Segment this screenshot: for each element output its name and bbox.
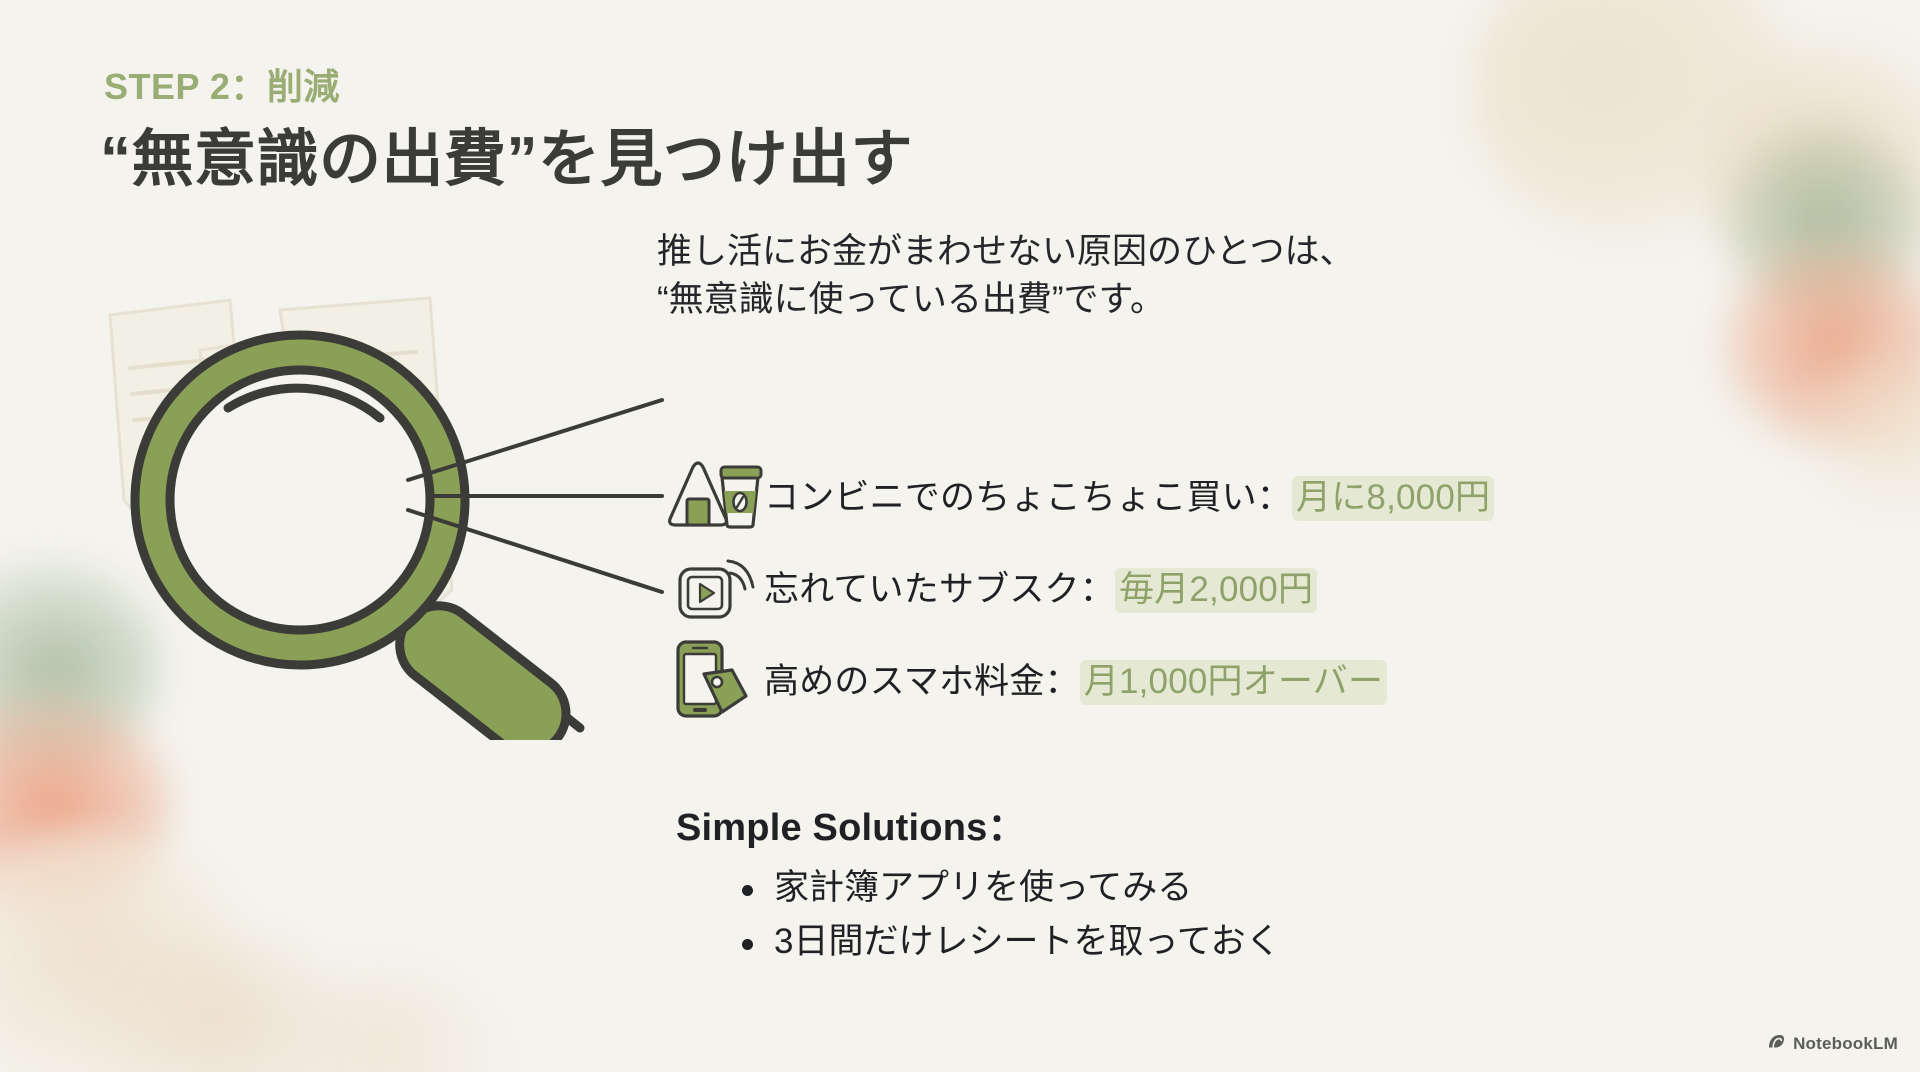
expense-item-label: コンビニでのちょこちょこ買い：: [764, 478, 1292, 517]
expense-item-row: コンビニでのちょこちょこ買い：月に8,000円: [660, 448, 1494, 540]
subscription-play-icon: [660, 549, 764, 623]
slide-canvas: STEP 2：削減 “無意識の出費”を見つけ出す 推し活にお金がまわせない原因の…: [0, 0, 1920, 1072]
connector-line-3: [408, 510, 662, 592]
notebooklm-icon: [1767, 1032, 1786, 1056]
watercolor-blob-green-top-right: [1720, 120, 1920, 320]
step-label: STEP 2：削減: [104, 58, 340, 110]
expense-item-label: 忘れていたサブスク：: [764, 570, 1115, 609]
expense-item-amount: 毎月2,000円: [1115, 568, 1317, 613]
solutions-list: 家計簿アプリを使ってみる 3日間だけレシートを取っておく: [676, 861, 1281, 970]
smartphone-pricetag-icon: [660, 636, 764, 720]
notebooklm-label: NotebookLM: [1793, 1034, 1898, 1054]
expense-item-amount: 月に8,000円: [1292, 476, 1494, 521]
watercolor-blob-cream-bottom: [90, 930, 350, 1072]
expense-items-list: コンビニでのちょこちょこ買い：月に8,000円 忘れていたサブスク：毎月2,00…: [660, 448, 1494, 724]
solutions-section: Simple Solutions： 家計簿アプリを使ってみる 3日間だけレシート…: [676, 796, 1281, 970]
watercolor-blob-cream-right: [1800, 330, 1920, 510]
onigiri-coffee-icon: [660, 457, 764, 531]
watercolor-blob-cream-bottom-center: [260, 972, 500, 1072]
watercolor-blob-cream-bottom-left: [0, 830, 240, 1072]
expense-item-text: 高めのスマホ料金：月1,000円オーバー: [764, 653, 1387, 704]
expense-item-row: 忘れていたサブスク：毎月2,000円: [660, 540, 1494, 632]
page-title: “無意識の出費”を見つけ出す: [100, 108, 913, 198]
intro-line-1: 推し活にお金がまわせない原因のひとつは、: [657, 228, 1355, 276]
solutions-title: Simple Solutions：: [676, 796, 1281, 851]
expense-item-amount: 月1,000円オーバー: [1080, 660, 1387, 705]
list-item: 家計簿アプリを使ってみる: [676, 861, 1281, 915]
watercolor-blob-tan-top-right: [1700, 40, 1920, 290]
list-item: 3日間だけレシートを取っておく: [676, 915, 1281, 969]
intro-line-2: “無意識に使っている出費”です。: [657, 276, 1355, 324]
expense-item-row: 高めのスマホ料金：月1,000円オーバー: [660, 632, 1494, 724]
expense-item-label: 高めのスマホ料金：: [764, 662, 1080, 701]
expense-item-text: コンビニでのちょこちょこ買い：月に8,000円: [764, 469, 1494, 520]
watercolor-blob-orange-top-right: [1720, 240, 1920, 450]
connector-line-1: [408, 400, 662, 480]
intro-paragraph: 推し活にお金がまわせない原因のひとつは、 “無意識に使っている出費”です。: [657, 228, 1355, 325]
connector-lines: [380, 380, 680, 630]
expense-item-text: 忘れていたサブスク：毎月2,000円: [764, 561, 1317, 612]
watercolor-blob-beige-top: [1470, 0, 1800, 240]
notebooklm-watermark: NotebookLM: [1767, 1032, 1898, 1056]
